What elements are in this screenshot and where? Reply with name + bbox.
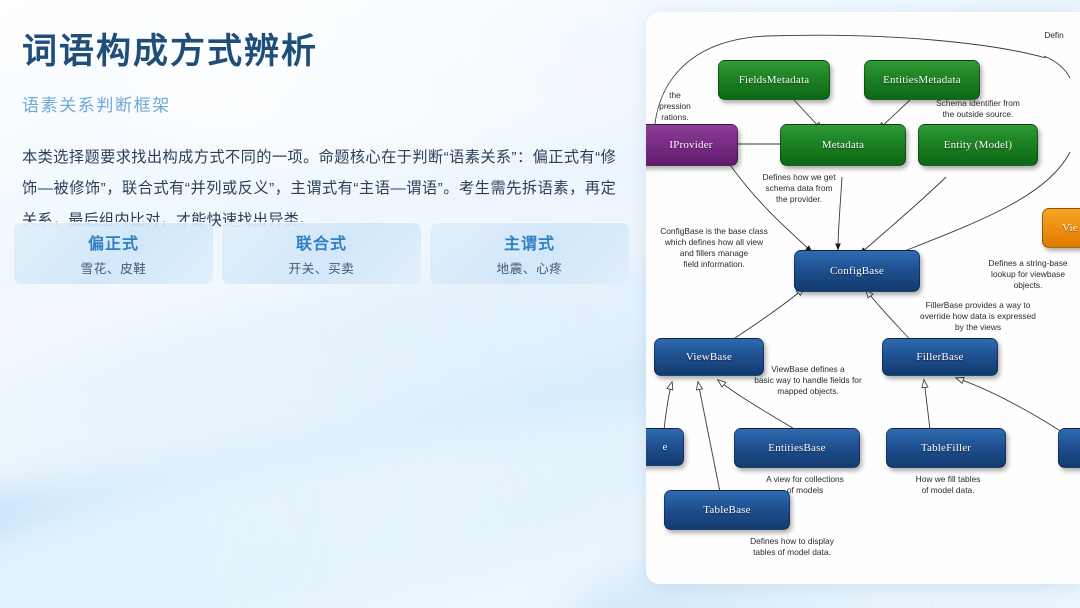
uml-node-iprovider[interactable]: IProvider bbox=[646, 124, 738, 166]
caption-viewlookup-note: Defines a string-base lookup for viewbas… bbox=[976, 258, 1080, 291]
node-label: EntitiesBase bbox=[768, 442, 825, 454]
category-card-group: 偏正式 雪花、皮鞋 联合式 开关、买卖 主谓式 地震、心疼 bbox=[14, 222, 629, 284]
diagram-canvas: FieldsMetadata EntitiesMetadata Metadata… bbox=[646, 12, 1080, 584]
card-examples: 雪花、皮鞋 bbox=[81, 258, 147, 277]
caption-tablebase-note: Defines how to display tables of model d… bbox=[730, 536, 854, 558]
node-label: Vie bbox=[1062, 222, 1078, 234]
node-label: Entity (Model) bbox=[944, 139, 1012, 151]
category-card-zhuweishi[interactable]: 主谓式 地震、心疼 bbox=[430, 222, 629, 284]
node-label: EntitiesMetadata bbox=[883, 74, 961, 86]
node-label: TableFiller bbox=[921, 442, 971, 454]
page-subtitle: 语素关系判断框架 bbox=[22, 91, 616, 116]
caption-schema-identifier: Schema identifier from the outside sourc… bbox=[908, 98, 1048, 120]
node-label: e bbox=[662, 441, 667, 453]
caption-entitiesbase-note: A view for collections of models bbox=[750, 474, 860, 496]
node-label: IProvider bbox=[669, 139, 712, 151]
node-label: FieldsMetadata bbox=[739, 74, 810, 86]
caption-defines-top-right: Defin bbox=[1028, 30, 1080, 41]
caption-fillerbase-note: FillerBase provides a way to override ho… bbox=[902, 300, 1054, 333]
uml-node-clipped-right[interactable] bbox=[1058, 428, 1080, 468]
caption-tablefiller-note: How we fill tables of model data. bbox=[896, 474, 1000, 496]
uml-node-entitiesbase[interactable]: EntitiesBase bbox=[734, 428, 860, 468]
category-card-pianzhengshi[interactable]: 偏正式 雪花、皮鞋 bbox=[14, 222, 213, 284]
card-title: 偏正式 bbox=[88, 230, 139, 254]
uml-node-viewbase[interactable]: ViewBase bbox=[654, 338, 764, 376]
uml-node-entity-model[interactable]: Entity (Model) bbox=[918, 124, 1038, 166]
node-label: TableBase bbox=[703, 504, 750, 516]
card-title: 联合式 bbox=[296, 230, 347, 254]
caption-configbase-note: ConfigBase is the base class which defin… bbox=[648, 226, 780, 270]
node-label: FillerBase bbox=[916, 351, 963, 363]
uml-node-fillerbase[interactable]: FillerBase bbox=[882, 338, 998, 376]
diagram-panel: FieldsMetadata EntitiesMetadata Metadata… bbox=[646, 12, 1080, 584]
slide-root: 词语构成方式辨析 语素关系判断框架 本类选择题要求找出构成方式不同的一项。命题核… bbox=[0, 0, 1080, 608]
uml-node-configbase[interactable]: ConfigBase bbox=[794, 250, 920, 292]
card-examples: 开关、买卖 bbox=[289, 258, 355, 277]
category-card-lianheshi[interactable]: 联合式 开关、买卖 bbox=[222, 222, 421, 284]
caption-provider-clip: the pression rations. bbox=[646, 90, 710, 123]
uml-node-entitiesmetadata[interactable]: EntitiesMetadata bbox=[864, 60, 980, 100]
uml-node-viewlookup[interactable]: Vie bbox=[1042, 208, 1080, 248]
node-label: ConfigBase bbox=[830, 265, 884, 277]
uml-node-clipped-left[interactable]: e bbox=[646, 428, 684, 466]
caption-metadata-note: Defines how we get schema data from the … bbox=[744, 172, 854, 205]
page-title: 词语构成方式辨析 bbox=[22, 30, 616, 74]
card-examples: 地震、心疼 bbox=[497, 258, 563, 277]
card-title: 主谓式 bbox=[504, 230, 555, 254]
content-column: 词语构成方式辨析 语素关系判断框架 本类选择题要求找出构成方式不同的一项。命题核… bbox=[0, 0, 646, 608]
uml-node-fieldsmetadata[interactable]: FieldsMetadata bbox=[718, 60, 830, 100]
node-label: Metadata bbox=[822, 139, 865, 151]
caption-viewbase-note: ViewBase defines a basic way to handle f… bbox=[750, 364, 866, 397]
uml-node-tablefiller[interactable]: TableFiller bbox=[886, 428, 1006, 468]
node-label: ViewBase bbox=[686, 351, 732, 363]
uml-node-metadata[interactable]: Metadata bbox=[780, 124, 906, 166]
